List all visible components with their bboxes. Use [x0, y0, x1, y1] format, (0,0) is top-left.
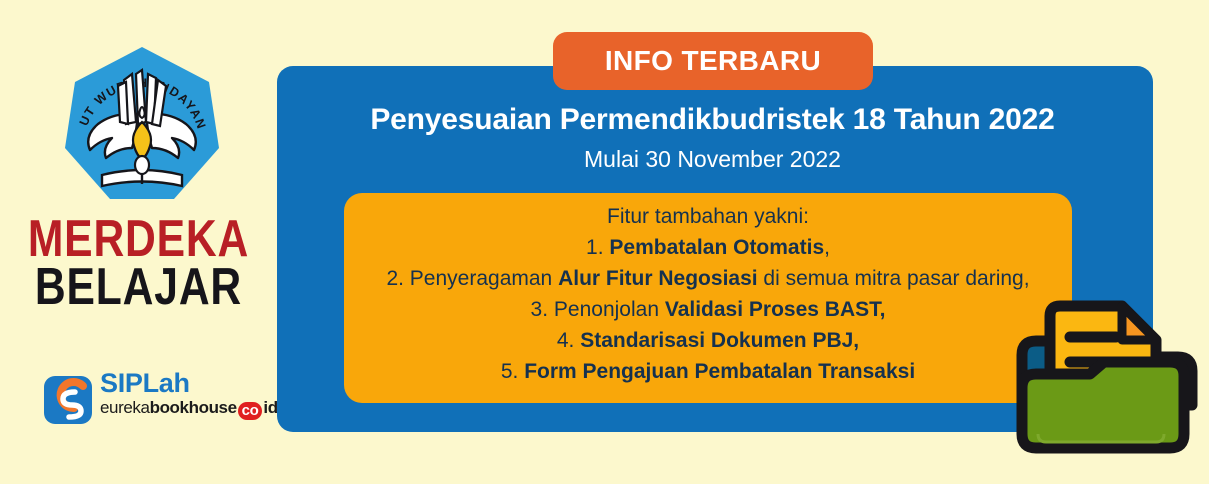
- feature-item: 4. Standarisasi Dokumen PBJ,: [344, 325, 1072, 356]
- page-title: Penyesuaian Permendikbudristek 18 Tahun …: [290, 103, 1135, 137]
- feature-number: 5.: [501, 360, 524, 383]
- feature-number: 4.: [557, 329, 580, 352]
- siplah-domain: eurekabookhousecoid: [100, 398, 260, 420]
- feature-prefix: Penonjolan: [554, 298, 665, 321]
- feature-highlight: Alur Fitur Negosiasi: [558, 267, 758, 290]
- page-subtitle: Mulai 30 November 2022: [290, 146, 1135, 173]
- folder-with-document-icon: [1012, 300, 1202, 465]
- siplah-logo: SIPLah eurekabookhousecoid: [44, 368, 254, 430]
- siplah-domain-suffix: id: [263, 398, 277, 417]
- siplah-name: SIPLah: [100, 368, 260, 398]
- wordmark-line-belajar: BELAJAR: [25, 264, 252, 312]
- feature-suffix: di semua mitra pasar daring,: [758, 267, 1030, 290]
- siplah-wordmark: SIPLah eurekabookhousecoid: [100, 368, 260, 420]
- feature-item: 2. Penyeragaman Alur Fitur Negosiasi di …: [344, 263, 1072, 294]
- features-card: Fitur tambahan yakni: 1. Pembatalan Otom…: [344, 193, 1072, 403]
- siplah-domain-badge: co: [238, 402, 263, 420]
- features-list: 1. Pembatalan Otomatis,2. Penyeragaman A…: [344, 232, 1072, 387]
- brand-column: TUT WURI HANDAYANI: [0, 0, 277, 484]
- feature-highlight: Standarisasi Dokumen PBJ,: [580, 329, 859, 352]
- feature-highlight: Validasi Proses BAST,: [665, 298, 886, 321]
- merdeka-belajar-wordmark: MERDEKA BELAJAR: [0, 216, 277, 312]
- feature-number: 1.: [586, 236, 609, 259]
- wordmark-line-merdeka: MERDEKA: [25, 216, 252, 264]
- feature-item: 5. Form Pengajuan Pembatalan Transaksi: [344, 356, 1072, 387]
- siplah-mark-icon: [44, 370, 98, 424]
- info-badge-label: INFO TERBARU: [605, 45, 821, 77]
- feature-number: 3.: [531, 298, 554, 321]
- feature-number: 2.: [386, 267, 409, 290]
- features-intro: Fitur tambahan yakni:: [344, 201, 1072, 232]
- feature-highlight: Pembatalan Otomatis: [609, 236, 824, 259]
- siplah-domain-prefix: eureka: [100, 398, 150, 417]
- tut-wuri-handayani-logo: TUT WURI HANDAYANI: [62, 44, 222, 209]
- feature-item: 3. Penonjolan Validasi Proses BAST,: [344, 294, 1072, 325]
- info-banner: TUT WURI HANDAYANI: [0, 0, 1209, 484]
- feature-item: 1. Pembatalan Otomatis,: [344, 232, 1072, 263]
- feature-prefix: Penyeragaman: [410, 267, 558, 290]
- info-badge: INFO TERBARU: [553, 32, 873, 90]
- feature-highlight: Form Pengajuan Pembatalan Transaksi: [524, 360, 915, 383]
- siplah-domain-bold: bookhouse: [150, 398, 237, 417]
- feature-suffix: ,: [824, 236, 830, 259]
